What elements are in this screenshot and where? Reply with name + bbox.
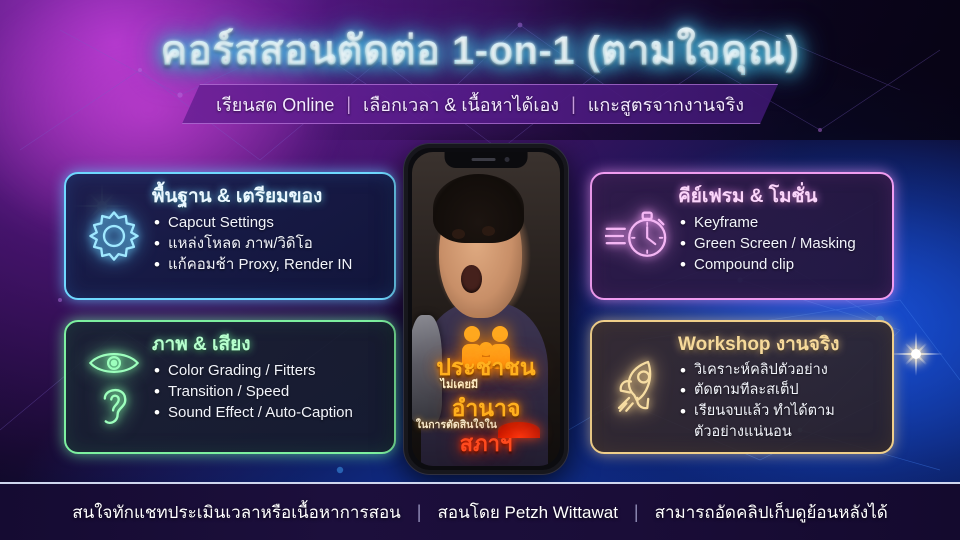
subtitle-item-2: แกะสูตรจากงานจริง: [588, 90, 744, 119]
card-basics-body: พื้นฐาน & เตรียมของ Capcut Settings แหล่…: [152, 184, 382, 288]
list-item: Compound clip: [678, 254, 880, 275]
list-item: Color Grading / Fitters: [152, 360, 382, 381]
card-basics-icon-group: [76, 184, 152, 288]
phone-screen: ประชาชน ไม่เคยมี อำนาจ ในการตัดสินใจใน ส…: [412, 152, 560, 466]
list-item: แก้คอมช้า Proxy, Render IN: [152, 254, 382, 275]
card-keyframe-title: คีย์เฟรม & โมชั่น: [678, 186, 880, 208]
subtitle-separator: |: [571, 94, 576, 115]
subtitle-item-1: เลือกเวลา & เนื้อหาได้เอง: [363, 90, 559, 119]
eye-icon: [87, 348, 141, 378]
footer-bar: สนใจทักแชทประเมินเวลาหรือเนื้อหาการสอน |…: [0, 482, 960, 540]
list-item: แหล่งโหลด ภาพ/วิดิโอ: [152, 233, 382, 254]
card-basics-list: Capcut Settings แหล่งโหลด ภาพ/วิดิโอ แก้…: [152, 212, 382, 276]
subtitle-bar: เรียนสด Online | เลือกเวลา & เนื้อหาได้เ…: [182, 84, 778, 124]
card-workshop-title: Workshop งานจริง: [678, 334, 880, 356]
subtitle-item-0: เรียนสด Online: [216, 90, 334, 119]
front-camera-icon: [504, 157, 509, 162]
overlay-line-1: ประชาชน: [412, 356, 560, 379]
subject-eye-right: [482, 226, 495, 236]
card-workshop-body: Workshop งานจริง วิเคราะห์คลิปตัวอย่าง ต…: [678, 332, 880, 442]
list-item: Keyframe: [678, 212, 880, 233]
phone-mockup: ประชาชน ไม่เคยมี อำนาจ ในการตัดสินใจใน ส…: [404, 144, 568, 474]
list-item: Transition / Speed: [152, 381, 382, 402]
overlay-line-5: สภาฯ: [412, 433, 560, 455]
list-item: Sound Effect / Auto-Caption: [152, 402, 382, 423]
gear-icon: [85, 207, 143, 265]
card-workshop[interactable]: Workshop งานจริง วิเคราะห์คลิปตัวอย่าง ต…: [590, 320, 894, 454]
card-workshop-icon-group: [602, 332, 678, 442]
list-item: Green Screen / Masking: [678, 233, 880, 254]
footer-item-2: สามารถอัดคลิปเก็บดูย้อนหลังได้: [655, 499, 888, 526]
subject-hair: [433, 174, 525, 243]
card-basics[interactable]: พื้นฐาน & เตรียมของ Capcut Settings แหล่…: [64, 172, 396, 300]
card-visual[interactable]: ภาพ & เสียง Color Grading / Fitters Tran…: [64, 320, 396, 454]
overlay-line-4: ในการตัดสินใจใน: [412, 420, 530, 431]
header: คอร์สสอนตัดต่อ 1-on-1 (ตามใจคุณ) เรียนสด…: [0, 0, 960, 132]
subtitle-separator: |: [346, 94, 351, 115]
footer-item-1: สอนโดย Petzh Wittawat: [437, 499, 617, 526]
ear-icon: [95, 382, 133, 426]
stopwatch-icon: [605, 207, 675, 265]
card-visual-title: ภาพ & เสียง: [152, 334, 382, 356]
card-keyframe-icon-group: [602, 184, 678, 288]
phone-notch: [445, 152, 528, 168]
footer-item-0: สนใจทักแชทประเมินเวลาหรือเนื้อหาการสอน: [72, 499, 401, 526]
overlay-line-3: อำนาจ: [412, 397, 560, 420]
list-item: วิเคราะห์คลิปตัวอย่าง: [678, 360, 880, 381]
subject-mouth: [461, 265, 482, 293]
card-workshop-list: วิเคราะห์คลิปตัวอย่าง ตัดตามทีละสเต็ป เร…: [678, 360, 880, 442]
rocket-icon: [609, 356, 671, 418]
overlay-line-2: ไม่เคยมี: [412, 380, 533, 391]
card-keyframe-body: คีย์เฟรม & โมชั่น Keyframe Green Screen …: [678, 184, 880, 288]
list-item: เรียนจบแล้ว ทำได้ตาม: [678, 401, 880, 422]
list-item: ตัดตามทีละสเต็ป: [678, 380, 880, 401]
footer-separator: |: [417, 502, 422, 523]
footer-separator: |: [634, 502, 639, 523]
card-keyframe[interactable]: คีย์เฟรม & โมชั่น Keyframe Green Screen …: [590, 172, 894, 300]
page-title: คอร์สสอนตัดต่อ 1-on-1 (ตามใจคุณ): [0, 18, 960, 82]
promo-banner: คอร์สสอนตัดต่อ 1-on-1 (ตามใจคุณ) เรียนสด…: [0, 0, 960, 540]
card-visual-icon-group: [76, 332, 152, 442]
list-item: ตัวอย่างแน่นอน: [678, 422, 880, 443]
card-basics-title: พื้นฐาน & เตรียมของ: [152, 186, 382, 208]
list-item: Capcut Settings: [152, 212, 382, 233]
card-visual-body: ภาพ & เสียง Color Grading / Fitters Tran…: [152, 332, 382, 442]
card-keyframe-list: Keyframe Green Screen / Masking Compound…: [678, 212, 880, 276]
earpiece-speaker-icon: [471, 158, 496, 161]
card-visual-list: Color Grading / Fitters Transition / Spe…: [152, 360, 382, 424]
